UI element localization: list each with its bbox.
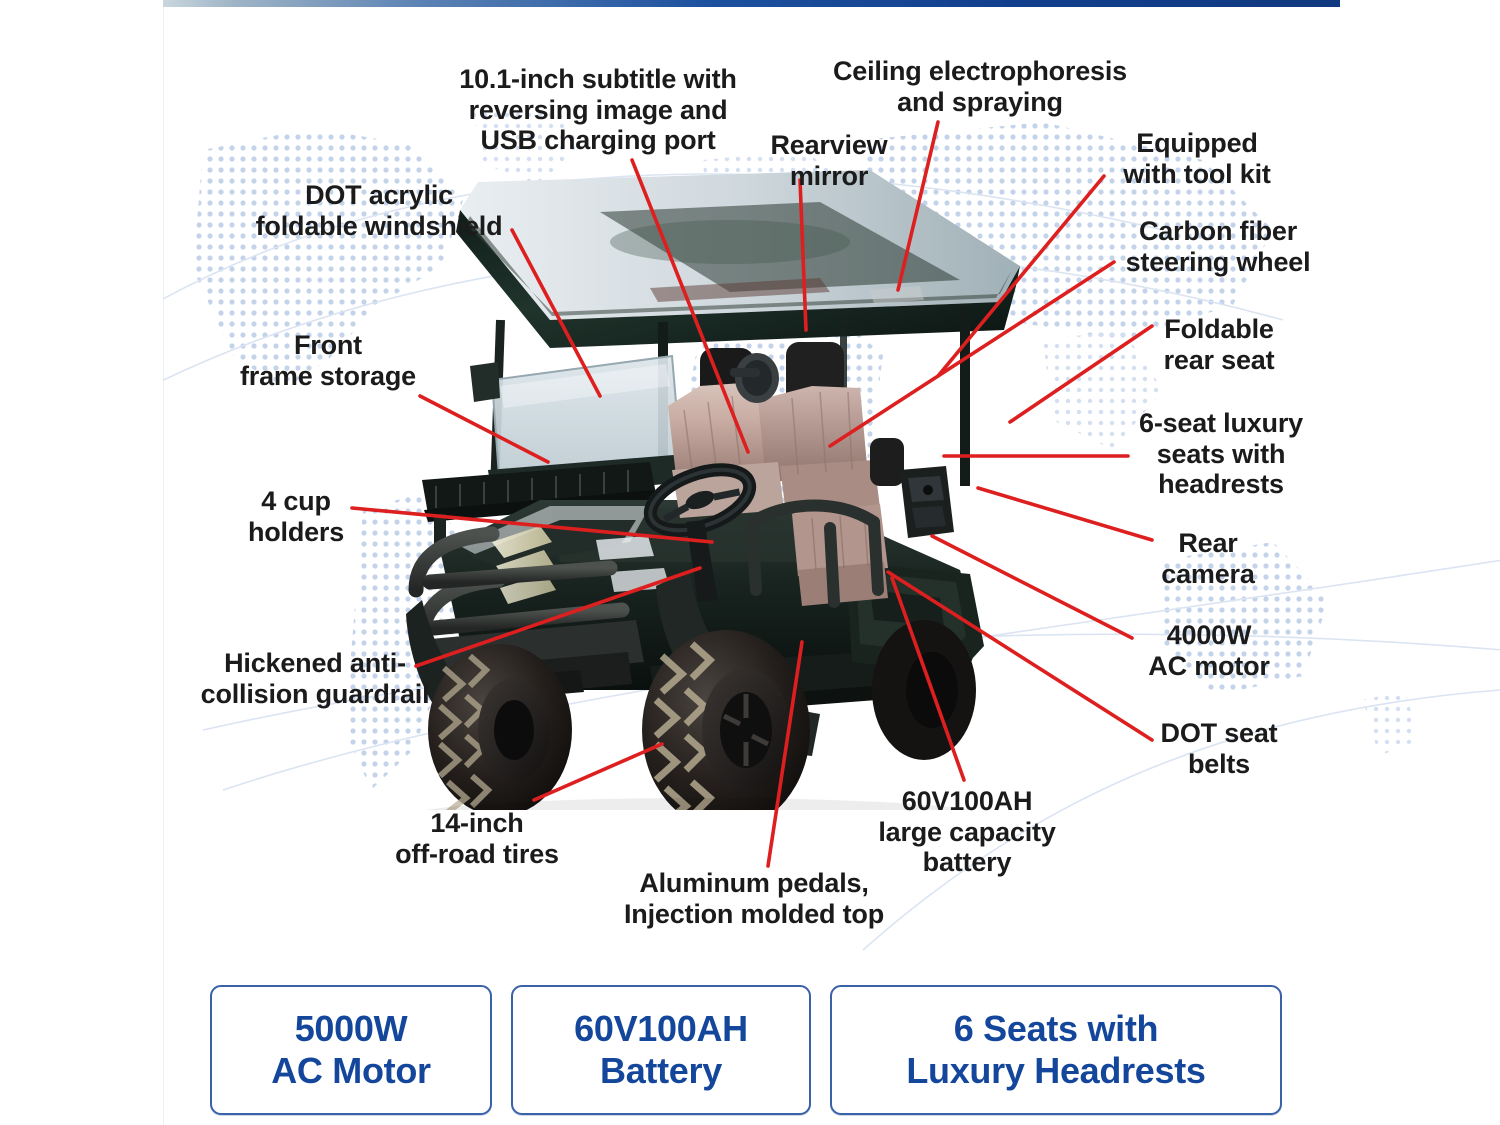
callout-pedals: Aluminum pedals, Injection molded top — [612, 868, 896, 929]
callout-cup-holders: 4 cup holders — [240, 486, 352, 547]
callout-guardrail: Hickened anti- collision guardrail — [196, 648, 434, 709]
spec-box-battery[interactable]: 60V100AH Battery — [511, 985, 811, 1115]
callout-ceiling: Ceiling electrophoresis and spraying — [820, 56, 1140, 117]
callout-subtitle-display: 10.1-inch subtitle with reversing image … — [450, 64, 746, 156]
spec-box-motor[interactable]: 5000W AC Motor — [210, 985, 492, 1115]
callout-seat-belts: DOT seat belts — [1154, 718, 1284, 779]
callout-battery: 60V100AH large capacity battery — [874, 786, 1060, 878]
callout-tool-kit: Equipped with tool kit — [1106, 128, 1288, 189]
callout-ac-motor: 4000W AC motor — [1138, 620, 1280, 681]
spec-box-row: 5000W AC Motor 60V100AH Battery 6 Seats … — [210, 985, 1308, 1115]
callout-foldable-rear-seat: Foldable rear seat — [1144, 314, 1294, 375]
callout-tires: 14-inch off-road tires — [384, 808, 570, 869]
callout-rear-camera: Rear camera — [1152, 528, 1264, 589]
infographic-page: 10.1-inch subtitle with reversing image … — [0, 0, 1500, 1125]
callout-front-frame-storage: Front frame storage — [230, 330, 426, 391]
product-photo-golf-cart — [400, 170, 1040, 810]
callout-steering-wheel: Carbon fiber steering wheel — [1118, 216, 1318, 277]
callout-luxury-seats: 6-seat luxury seats with headrests — [1128, 408, 1314, 500]
callout-rearview-mirror: Rearview mirror — [756, 130, 902, 191]
spec-box-seats[interactable]: 6 Seats with Luxury Headrests — [830, 985, 1282, 1115]
top-accent-bar — [163, 0, 1340, 7]
callout-windshield: DOT acrylic foldable windshield — [240, 180, 518, 241]
